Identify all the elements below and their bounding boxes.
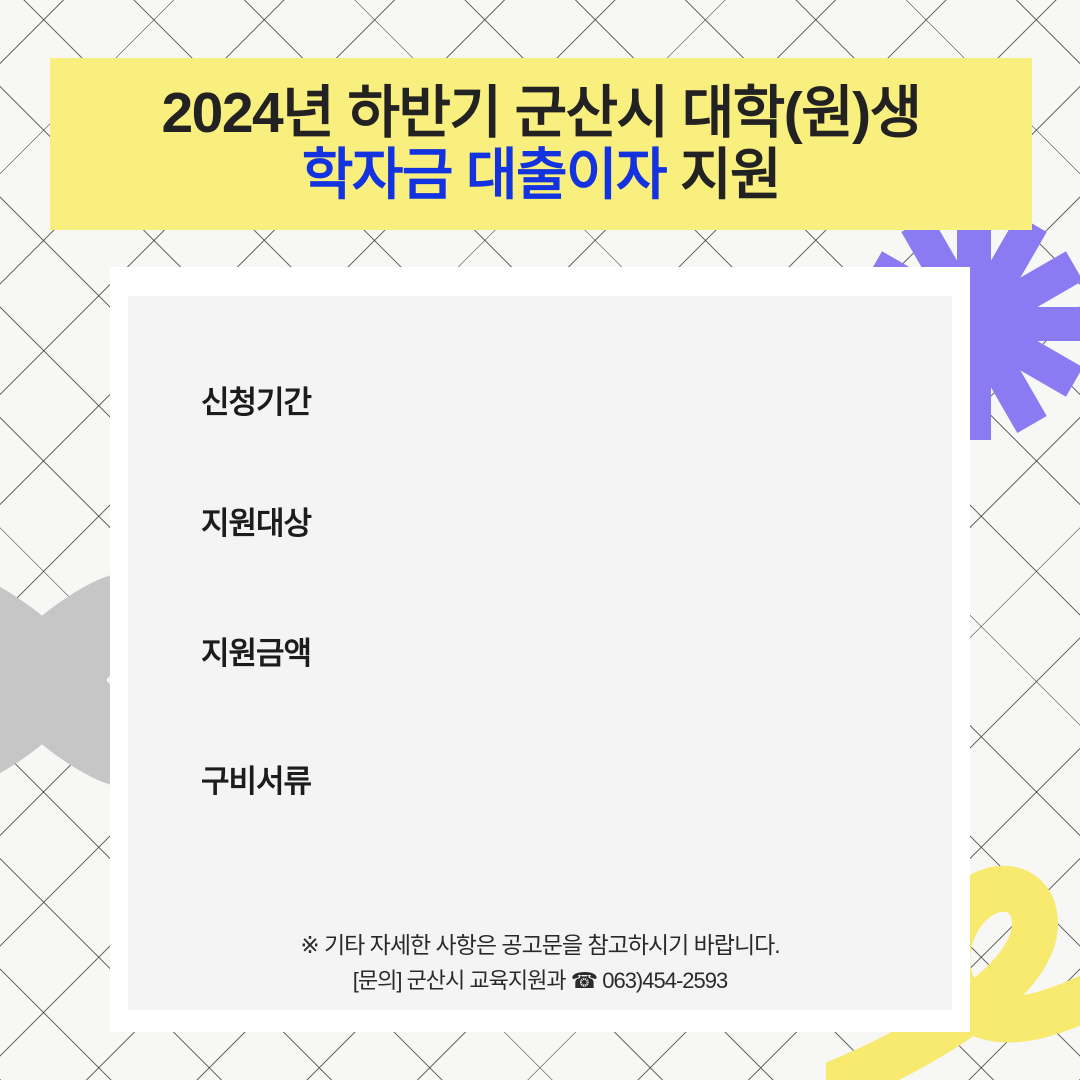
title-line-2: 학자금 대출이자 지원 [302,145,780,205]
footer-line-1: ※ 기타 자세한 사항은 공고문을 참고하시기 바랍니다. [0,928,1080,964]
badge-period-label: 신청기간 [170,366,342,432]
title-line-1: 2024년 하반기 군산시 대학(원)생 [161,83,920,145]
badge-target: 지원대상 [170,487,342,553]
badge-target-label: 지원대상 [170,487,342,553]
badge-documents: 구비서류 [170,745,342,811]
badge-amount-label: 지원금액 [170,617,342,683]
badge-documents-label: 구비서류 [170,745,342,811]
badge-amount: 지원금액 [170,617,342,683]
footer-line-2: [문의] 군산시 교육지원과 ☎ 063)454-2593 [0,964,1080,998]
footer: ※ 기타 자세한 사항은 공고문을 참고하시기 바랍니다. [문의] 군산시 교… [0,928,1080,998]
poster-canvas: 2024년 하반기 군산시 대학(원)생 학자금 대출이자 지원 신청기간 20… [0,0,1080,1080]
badge-period: 신청기간 [170,366,342,432]
title-line-2-tail: 지원 [666,143,780,206]
title-line-2-highlight: 학자금 대출이자 [302,143,666,206]
title-banner: 2024년 하반기 군산시 대학(원)생 학자금 대출이자 지원 [50,58,1032,230]
